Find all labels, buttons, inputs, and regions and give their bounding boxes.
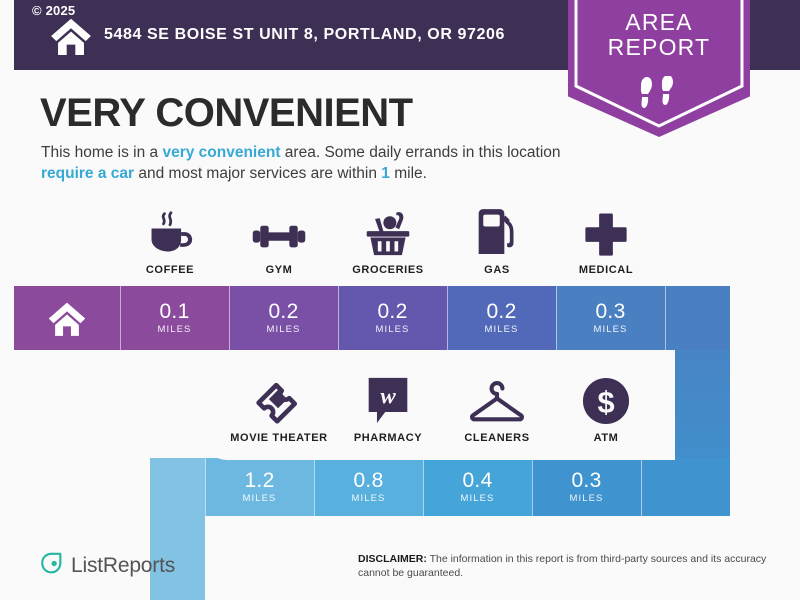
area-report-badge: AREA REPORT [568,0,750,137]
distance-cell-coffee: 0.1 MILES [120,286,229,350]
svg-text:$: $ [597,385,614,420]
distance-unit: MILES [593,324,627,335]
category-cleaners: CLEANERS [442,373,552,444]
distance-bar-tail-1 [665,286,730,350]
category-groceries: GROCERIES [333,205,443,276]
category-movie-theater: MOVIE THEATER [224,373,334,444]
category-gym: GYM [224,205,334,276]
category-label: PHARMACY [333,432,443,444]
distance-bar-row-1: 0.1 MILES 0.2 MILES 0.2 MILES 0.2 MILES … [14,286,730,350]
distance-cell-groceries: 0.2 MILES [338,286,447,350]
walgreens-w-icon: w [333,373,443,425]
area-report-page: © 2025 5484 SE BOISE ST UNIT 8, PORTLAND… [0,0,800,600]
listreports-house-tag-icon [40,552,63,580]
copyright-label: © 2025 [32,3,75,18]
badge-title-line2: REPORT [568,35,750,60]
distance-cell-pharmacy: 0.8 MILES [314,458,423,516]
medical-cross-icon [551,205,661,257]
summary-part-1: This home is in a [41,144,162,161]
property-address: 5484 SE BOISE ST UNIT 8, PORTLAND, OR 97… [104,26,505,44]
listreports-logo-text: ListReports [71,554,175,578]
distance-cell-gas: 0.2 MILES [447,286,556,350]
summary-highlight-2: require a car [41,165,134,182]
distance-cell-movie-theater: 1.2 MILES [205,458,314,516]
category-pharmacy: w PHARMACY [333,373,443,444]
distance-unit: MILES [351,493,385,504]
distance-value: 0.3 [571,471,601,491]
summary-part-2: area. Some daily errands in this locatio… [281,144,561,161]
clothes-hanger-icon [442,373,552,425]
dollar-circle-icon: $ [551,373,661,425]
disclaimer: DISCLAIMER: The information in this repo… [358,552,788,580]
distance-value: 0.8 [353,471,383,491]
home-marker [14,286,120,350]
badge-title: AREA REPORT [568,10,750,60]
distance-unit: MILES [460,493,494,504]
gas-pump-icon [442,205,552,257]
footprints-icon [637,76,681,110]
distance-bar-head-2 [150,458,205,516]
summary-highlight-1: very convenient [162,144,280,161]
distance-value: 0.3 [595,302,625,322]
category-atm: $ ATM [551,373,661,444]
coffee-cup-icon [115,205,225,257]
category-label: GROCERIES [333,264,443,276]
distance-bar-row-2: 1.2 MILES 0.8 MILES 0.4 MILES 0.3 MILES [150,458,730,516]
summary-text: This home is in a very convenient area. … [41,142,571,184]
distance-value: 0.2 [486,302,516,322]
distance-unit: MILES [266,324,300,335]
movie-ticket-icon [224,373,334,425]
grocery-basket-icon [333,205,443,257]
distance-value: 0.4 [462,471,492,491]
category-label: GYM [224,264,334,276]
distance-unit: MILES [569,493,603,504]
distance-unit: MILES [484,324,518,335]
summary-highlight-3: 1 [381,165,390,182]
category-label: ATM [551,432,661,444]
distance-cell-atm: 0.3 MILES [532,458,641,516]
distance-bar-tail-2 [641,458,730,516]
category-label: GAS [442,264,552,276]
distance-value: 0.1 [159,302,189,322]
distance-value: 1.2 [244,471,274,491]
category-label: MOVIE THEATER [224,432,334,444]
category-coffee: COFFEE [115,205,225,276]
distance-unit: MILES [242,493,276,504]
category-gas: GAS [442,205,552,276]
listreports-logo[interactable]: ListReports [40,552,175,580]
summary-part-3: and most major services are within [134,165,381,182]
home-icon [50,17,92,55]
category-medical: MEDICAL [551,205,661,276]
page-title: VERY CONVENIENT [40,91,413,136]
distance-value: 0.2 [377,302,407,322]
distance-value: 0.2 [268,302,298,322]
distance-unit: MILES [157,324,191,335]
category-label: COFFEE [115,264,225,276]
distance-unit: MILES [375,324,409,335]
distance-cell-gym: 0.2 MILES [229,286,338,350]
category-label: MEDICAL [551,264,661,276]
badge-title-line1: AREA [568,10,750,35]
category-label: CLEANERS [442,432,552,444]
home-icon [48,301,86,336]
disclaimer-label: DISCLAIMER: [358,553,427,565]
distance-cell-medical: 0.3 MILES [556,286,665,350]
dumbbell-icon [224,205,334,257]
svg-text:w: w [380,384,396,409]
distance-cell-cleaners: 0.4 MILES [423,458,532,516]
summary-part-4: mile. [390,165,427,182]
